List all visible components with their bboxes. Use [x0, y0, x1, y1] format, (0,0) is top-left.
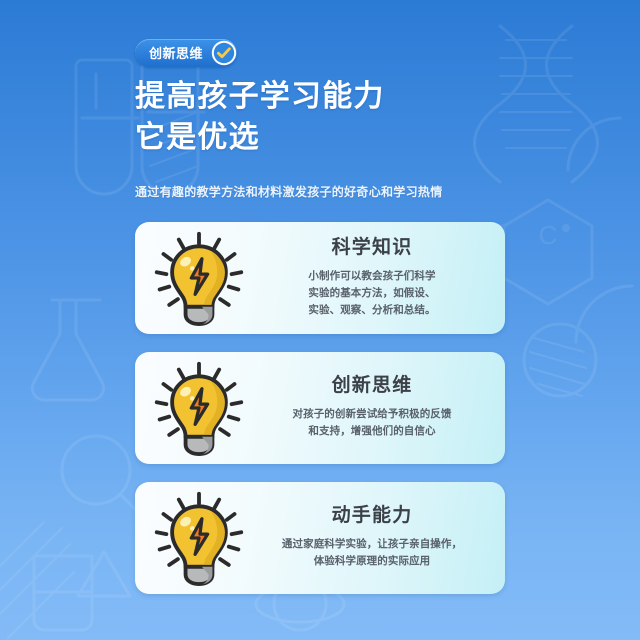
feature-card-text: 科学知识 小制作可以教会孩子们科学 实验的基本方法，如假设、 实验、观察、分析和… — [255, 238, 505, 319]
headline-line-2: 它是优选 — [135, 117, 385, 158]
feature-card[interactable]: 创新思维 对孩子的创新尝试给予积极的反馈 和支持，增强他们的自信心 — [135, 352, 505, 464]
arc-right-mid — [576, 286, 632, 342]
triangle-top-left — [78, 552, 130, 596]
page-title: 提高孩子学习能力 它是优选 — [135, 76, 385, 159]
badge-label: 创新思维 — [149, 47, 203, 60]
feature-card-description: 小制作可以教会孩子们科学 实验的基本方法，如假设、 实验、观察、分析和总结。 — [308, 268, 435, 319]
dna-helix — [475, 26, 598, 182]
feature-card[interactable]: 科学知识 小制作可以教会孩子们科学 实验的基本方法，如假设、 实验、观察、分析和… — [135, 222, 505, 334]
poster-page: C — [0, 0, 640, 640]
feature-card-list: 科学知识 小制作可以教会孩子们科学 实验的基本方法，如假设、 实验、观察、分析和… — [135, 222, 505, 594]
page-subtitle: 通过有趣的教学方法和材料激发孩子的好奇心和学习热情 — [135, 186, 443, 198]
feature-card-description: 对孩子的创新尝试给予积极的反馈 和支持，增强他们的自信心 — [293, 406, 452, 440]
lightbulb-icon — [135, 360, 255, 456]
feature-card-title: 科学知识 — [332, 238, 413, 257]
feature-badge[interactable]: 创新思维 — [135, 38, 237, 68]
feature-card-title: 创新思维 — [332, 376, 413, 395]
feature-card-description: 通过家庭科学实验，让孩子亲自操作， 体验科学原理的实际应用 — [282, 536, 462, 570]
feature-card-text: 动手能力 通过家庭科学实验，让孩子亲自操作， 体验科学原理的实际应用 — [255, 506, 505, 570]
arc-right-top — [568, 118, 620, 170]
beaker-bottom — [34, 556, 92, 630]
test-tube-left — [76, 60, 138, 194]
lightbulb-icon — [135, 230, 255, 326]
feature-card-title: 动手能力 — [332, 506, 413, 525]
flask-left — [32, 300, 103, 400]
lightbulb-icon — [135, 490, 255, 586]
hatch-bottom-left — [0, 522, 74, 638]
feature-card-text: 创新思维 对孩子的创新尝试给予积极的反馈 和支持，增强他们的自信心 — [255, 376, 505, 440]
lens-circle-right — [524, 324, 596, 396]
feature-card[interactable]: 动手能力 通过家庭科学实验，让孩子亲自操作， 体验科学原理的实际应用 — [135, 482, 505, 594]
headline-line-1: 提高孩子学习能力 — [135, 80, 385, 113]
check-circle-icon — [211, 40, 237, 66]
svg-text:C: C — [539, 220, 558, 250]
